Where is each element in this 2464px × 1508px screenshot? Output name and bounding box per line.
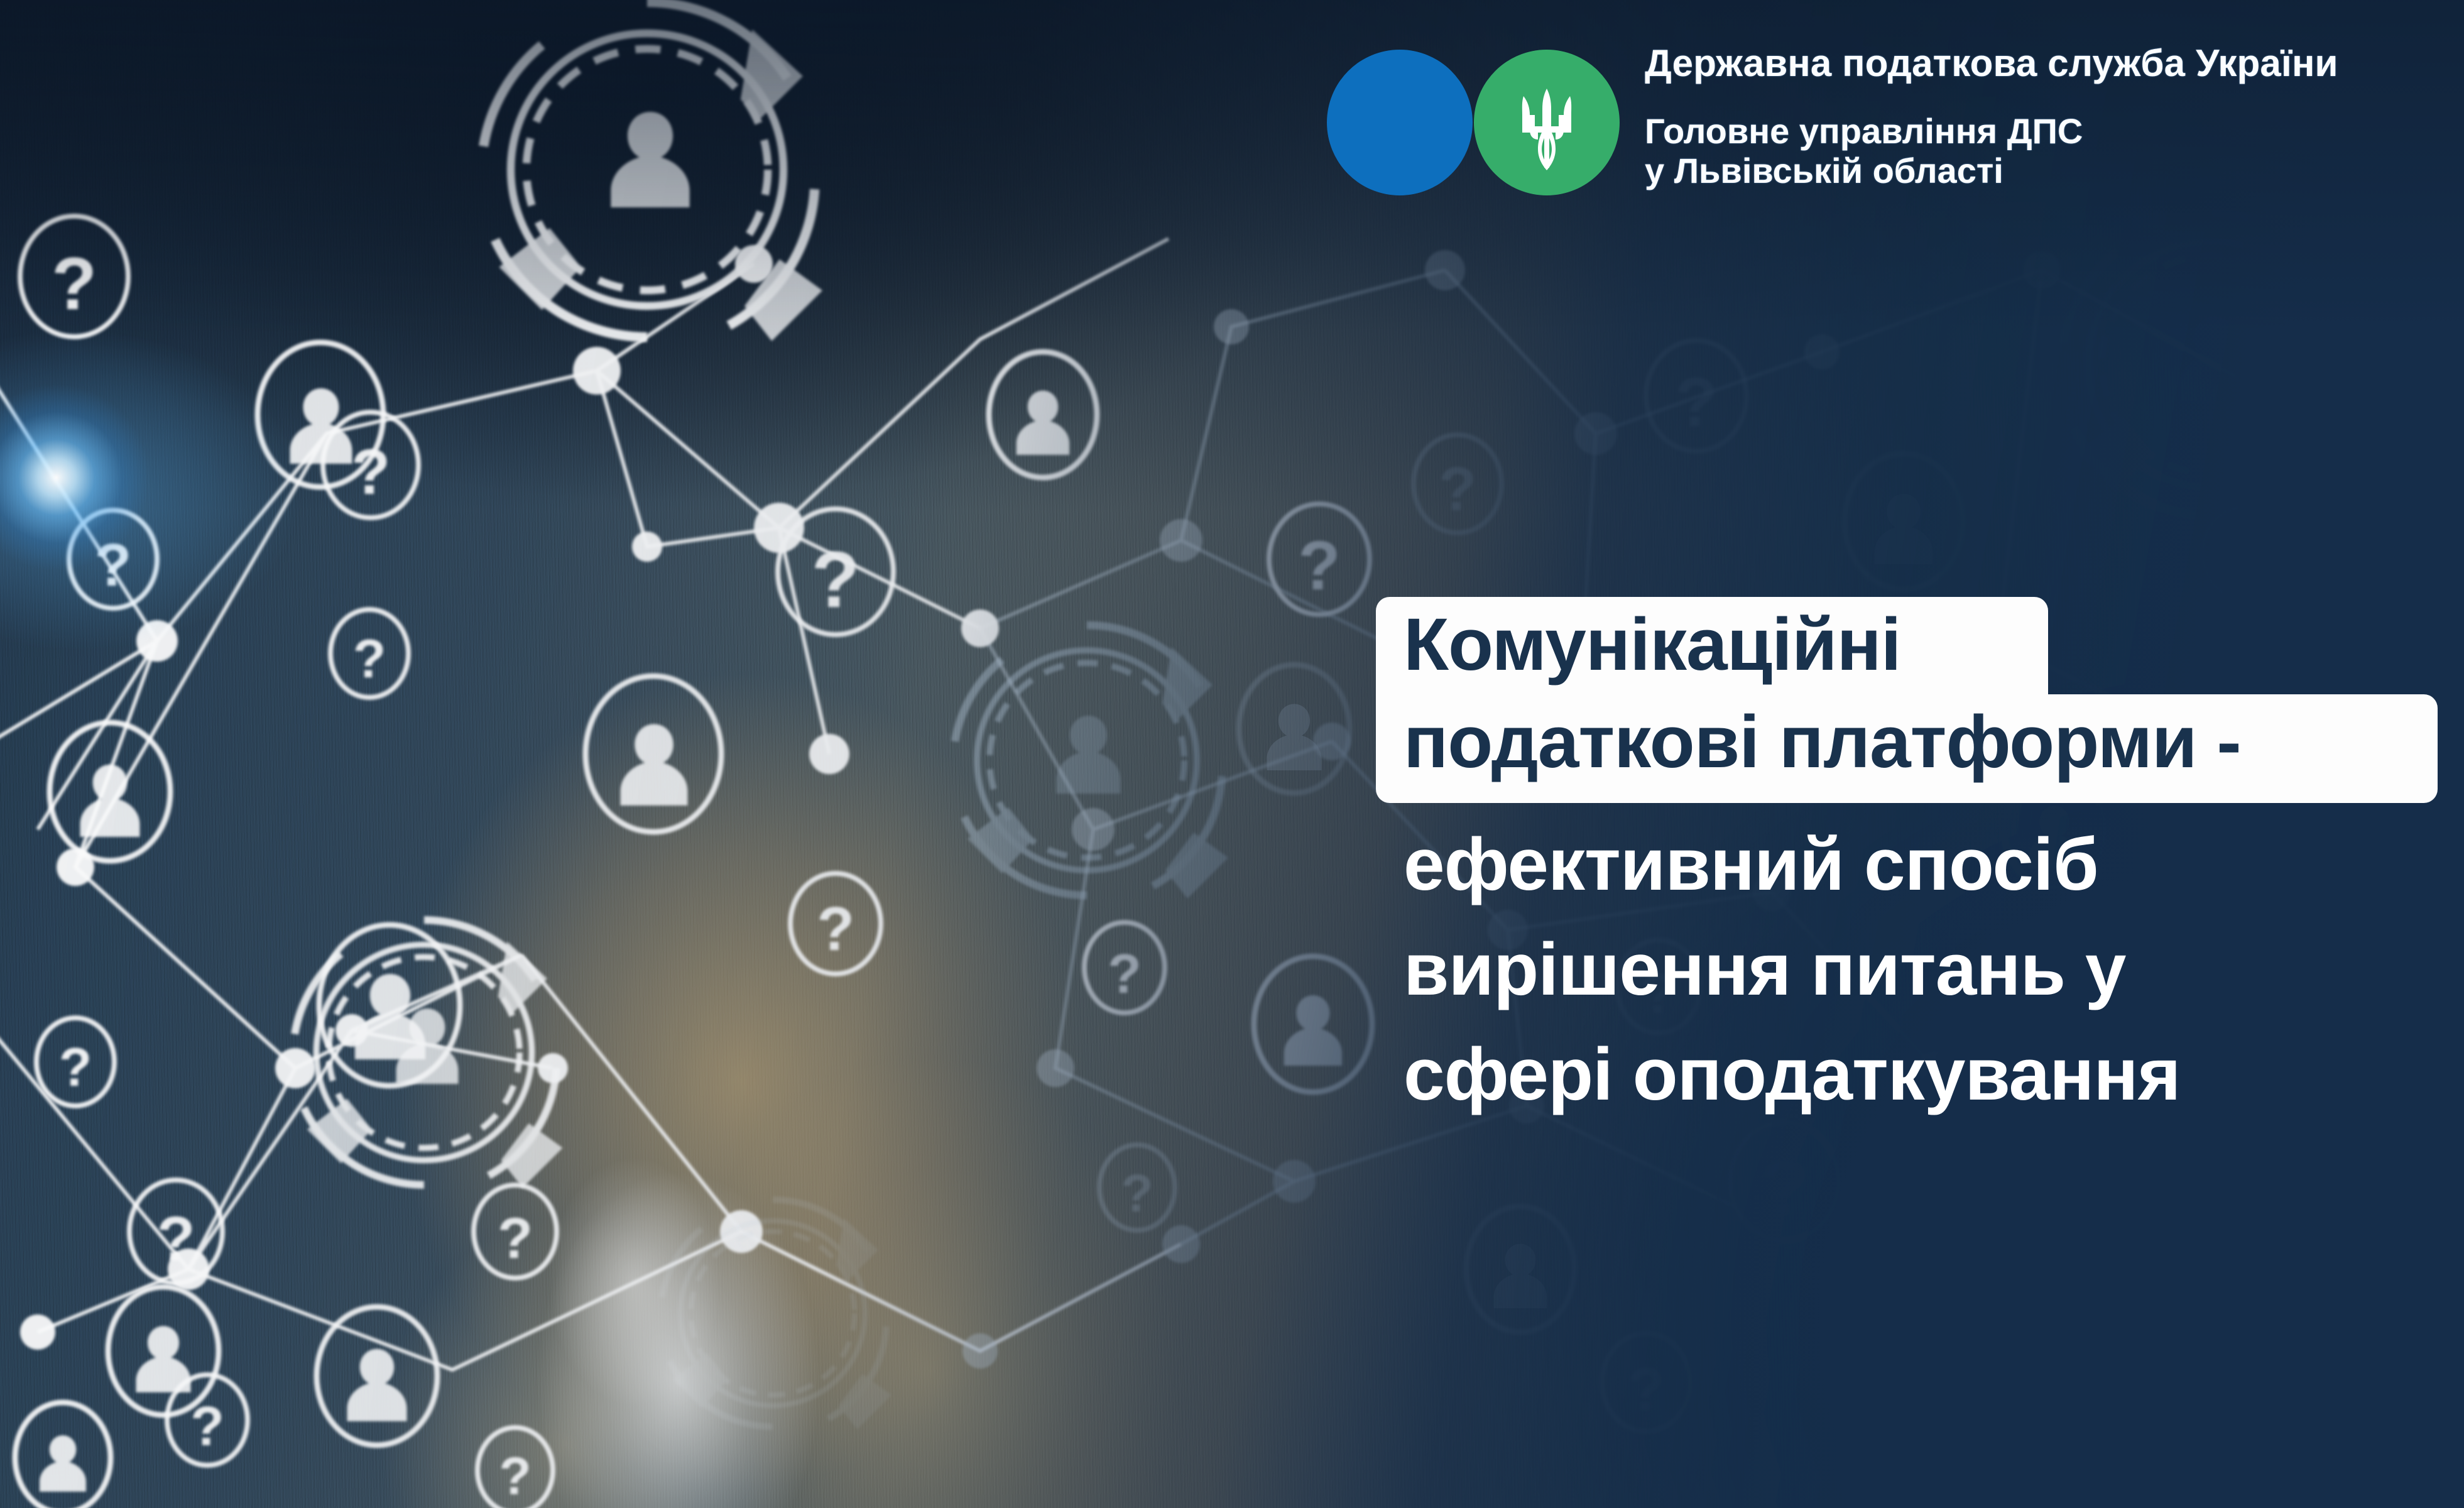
title-line-2-wrapper: податкові платформи - bbox=[1376, 694, 2438, 803]
title-line-5: сфері оподаткування bbox=[1376, 1032, 2438, 1118]
ukraine-trident-icon bbox=[1517, 87, 1577, 170]
dps-logo bbox=[1324, 35, 1645, 209]
logo-blue-circle bbox=[1327, 50, 1473, 195]
org-line-2: Головне управління ДПС bbox=[1645, 111, 2338, 151]
org-line-3: у Львівській області bbox=[1645, 151, 2338, 191]
organisation-header: Державна податкова служба України Головн… bbox=[1324, 35, 2338, 209]
title-line-3: ефективний спосіб bbox=[1376, 822, 2438, 908]
promo-banner: ? ? ? ? ? ? ? ? ? ? ? ? ? bbox=[0, 0, 2464, 1508]
title-line-5-wrapper: сфері оподаткування bbox=[1376, 1032, 2438, 1118]
org-line-1: Державна податкова служба України bbox=[1645, 43, 2338, 84]
title-line-4-wrapper: вирішення питань у bbox=[1376, 927, 2438, 1013]
title-line-3-wrapper: ефективний спосіб bbox=[1376, 822, 2438, 908]
title-line-1-wrapper: Комунікаційні bbox=[1376, 597, 2438, 694]
org-spacer bbox=[1645, 84, 2338, 111]
title-line-4: вирішення питань у bbox=[1376, 927, 2438, 1013]
organisation-name-block: Державна податкова служба України Головн… bbox=[1645, 35, 2338, 191]
title-line-1: Комунікаційні bbox=[1376, 597, 2048, 694]
title-line-2: податкові платформи - bbox=[1376, 694, 2438, 803]
banner-title: Комунікаційні податкові платформи - ефек… bbox=[1376, 597, 2438, 1117]
